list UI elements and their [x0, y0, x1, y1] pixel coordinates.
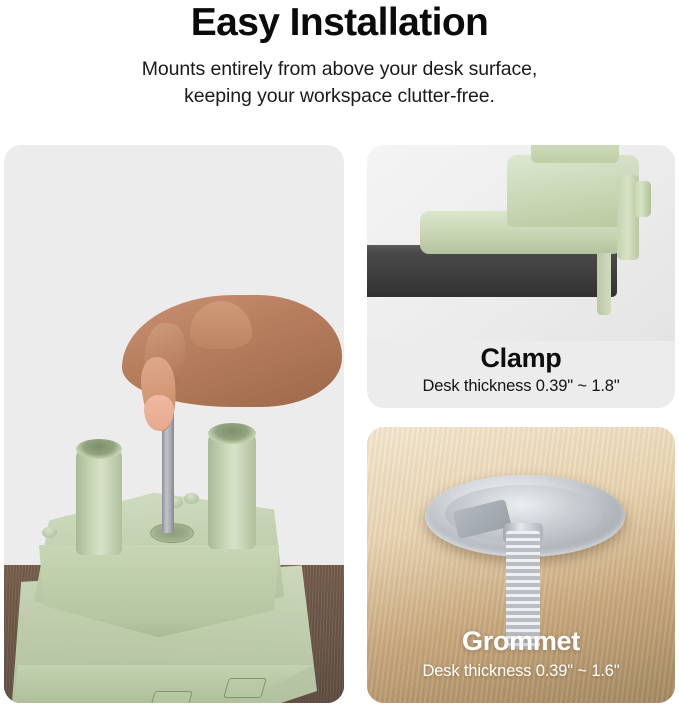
mount-boss-b [184, 493, 199, 504]
clamp-title: Clamp [367, 341, 675, 375]
clamp-knob [633, 181, 651, 217]
base-tab-right [223, 678, 267, 698]
page-subtitle: Mounts entirely from above your desk sur… [0, 56, 679, 110]
grommet-caption: Grommet Desk thickness 0.39" ~ 1.6" [367, 623, 675, 683]
clamp-spec: Desk thickness 0.39" ~ 1.8" [367, 375, 675, 398]
panel-top-mounted: Top-Mounted [4, 145, 344, 703]
mount-tube-right-opening [208, 423, 256, 444]
clamp-foot [597, 253, 611, 315]
page-title: Easy Installation [0, 1, 679, 45]
clamp-stage [367, 145, 675, 341]
mount-boss-c [42, 527, 57, 538]
panel-clamp: Clamp Desk thickness 0.39" ~ 1.8" [367, 145, 675, 408]
grommet-spec: Desk thickness 0.39" ~ 1.6" [367, 659, 675, 683]
panel-grommet: Grommet Desk thickness 0.39" ~ 1.6" [367, 427, 675, 703]
mount-tube-right [208, 429, 256, 549]
mount-tube-left [76, 445, 122, 555]
base-tab-left [149, 691, 193, 703]
grommet-title: Grommet [367, 623, 675, 659]
subtitle-line-2: keeping your workspace clutter-free. [0, 83, 679, 110]
clamp-neck [531, 145, 619, 163]
header: Easy Installation Mounts entirely from a… [0, 0, 679, 140]
clamp-caption: Clamp Desk thickness 0.39" ~ 1.8" [367, 341, 675, 398]
subtitle-line-1: Mounts entirely from above your desk sur… [0, 56, 679, 83]
mount-tube-left-opening [76, 439, 122, 459]
infographic-page: Easy Installation Mounts entirely from a… [0, 0, 679, 707]
